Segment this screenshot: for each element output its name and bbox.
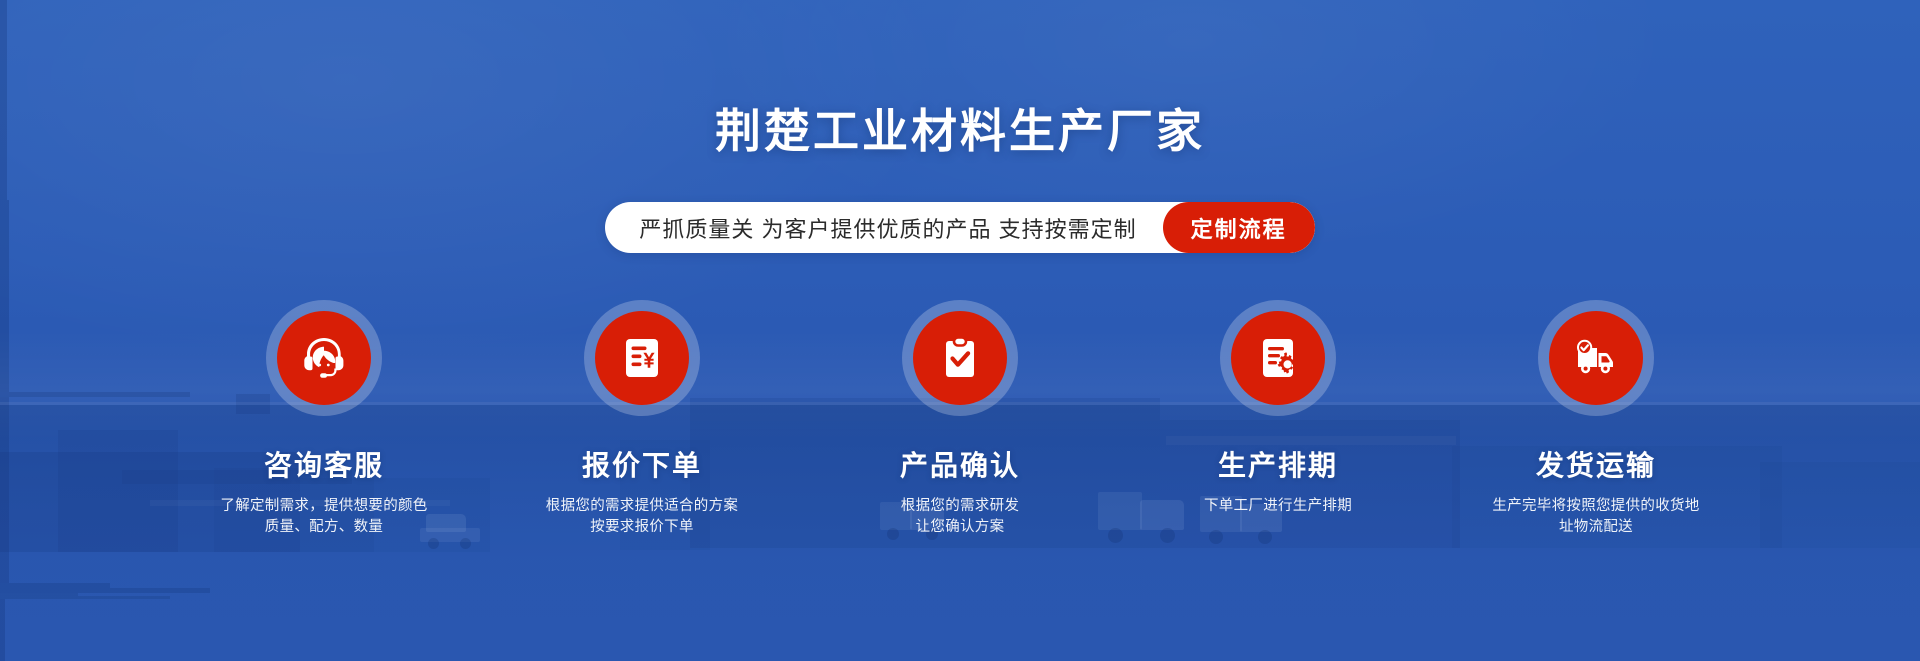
page-title: 荆楚工业材料生产厂家 [0,95,1920,161]
crane-jib-icon [0,588,210,593]
crane-mast-icon [0,599,5,661]
clipboard-check-icon [936,334,984,382]
step-item-delivery[interactable]: 发货运输 生产完毕将按照您提供的收货地 址物流配送 [1466,300,1726,538]
tagline-pill: 严抓质量关 为客户提供优质的产品 支持按需定制 定制流程 [605,202,1314,253]
crane-jib-icon [0,583,110,588]
promo-banner: 荆楚工业材料生产厂家 严抓质量关 为客户提供优质的产品 支持按需定制 定制流程 [0,0,1920,661]
step-label: 咨询客服 [264,444,384,484]
step-label: 报价下单 [582,444,702,484]
step-icon-ring [1220,300,1336,416]
step-icon-ring [584,300,700,416]
step-description: 生产完毕将按照您提供的收货地 址物流配送 [1492,496,1699,538]
step-icon-ring [266,300,382,416]
step-icon-circle [1231,311,1325,405]
step-icon-circle [1549,311,1643,405]
step-item-schedule[interactable]: 生产排期 下单工厂进行生产排期 [1148,300,1408,538]
step-label: 发货运输 [1536,444,1656,484]
tagline-text: 严抓质量关 为客户提供优质的产品 支持按需定制 [605,202,1162,253]
custom-process-button[interactable]: 定制流程 [1163,202,1315,253]
quote-invoice-icon [618,334,666,382]
headset-support-icon [298,332,350,384]
crane-tie-icon [0,593,78,596]
step-icon-circle [277,311,371,405]
step-description: 根据您的需求研发 让您确认方案 [901,496,1019,538]
document-gear-icon [1254,334,1302,382]
step-item-quote[interactable]: 报价下单 根据您的需求提供适合的方案 按要求报价下单 [512,300,772,538]
tagline-bar: 严抓质量关 为客户提供优质的产品 支持按需定制 定制流程 [0,202,1920,253]
step-item-consult[interactable]: 咨询客服 了解定制需求，提供想要的颜色 质量、配方、数量 [194,300,454,538]
delivery-truck-icon [1570,332,1622,384]
step-item-confirm[interactable]: 产品确认 根据您的需求研发 让您确认方案 [830,300,1090,538]
crane-tie-icon [0,596,170,599]
step-description: 下单工厂进行生产排期 [1204,496,1352,517]
step-icon-circle [595,311,689,405]
step-label: 生产排期 [1218,444,1338,484]
step-icon-ring [1538,300,1654,416]
step-icon-circle [913,311,1007,405]
step-description: 了解定制需求，提供想要的颜色 质量、配方、数量 [220,496,427,538]
process-steps: 咨询客服 了解定制需求，提供想要的颜色 质量、配方、数量 报价 [0,300,1920,538]
step-icon-ring [902,300,1018,416]
step-label: 产品确认 [900,444,1020,484]
step-description: 根据您的需求提供适合的方案 按要求报价下单 [546,496,738,538]
